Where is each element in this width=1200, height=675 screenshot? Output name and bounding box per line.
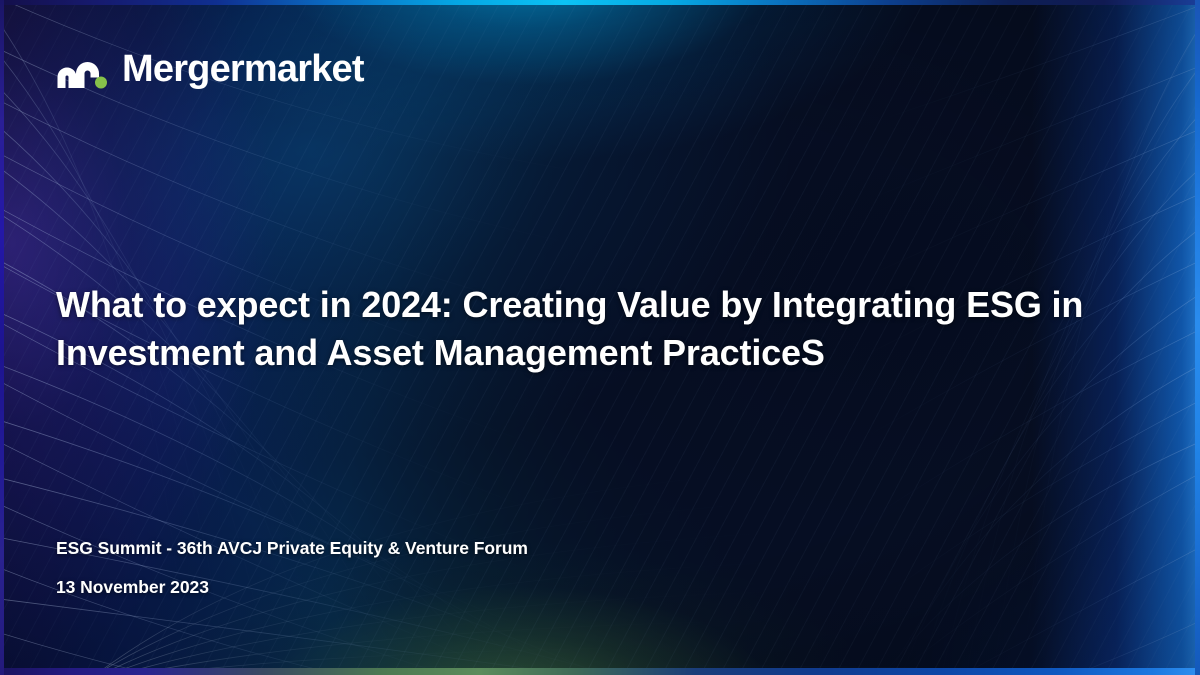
slide-title: What to expect in 2024: Creating Value b…	[56, 281, 1116, 376]
event-date: 13 November 2023	[56, 579, 528, 597]
brand-logo: Mergermarket	[56, 48, 364, 90]
slide-content: Mergermarket What to expect in 2024: Cre…	[0, 0, 1200, 675]
slide-meta: ESG Summit - 36th AVCJ Private Equity & …	[56, 540, 528, 596]
brand-name: Mergermarket	[122, 50, 364, 88]
title-block: What to expect in 2024: Creating Value b…	[56, 281, 1116, 376]
event-name: ESG Summit - 36th AVCJ Private Equity & …	[56, 540, 528, 558]
logo-dot-icon	[95, 77, 107, 89]
mergermarket-arch-icon	[56, 48, 108, 90]
title-slide: Mergermarket What to expect in 2024: Cre…	[0, 0, 1200, 675]
